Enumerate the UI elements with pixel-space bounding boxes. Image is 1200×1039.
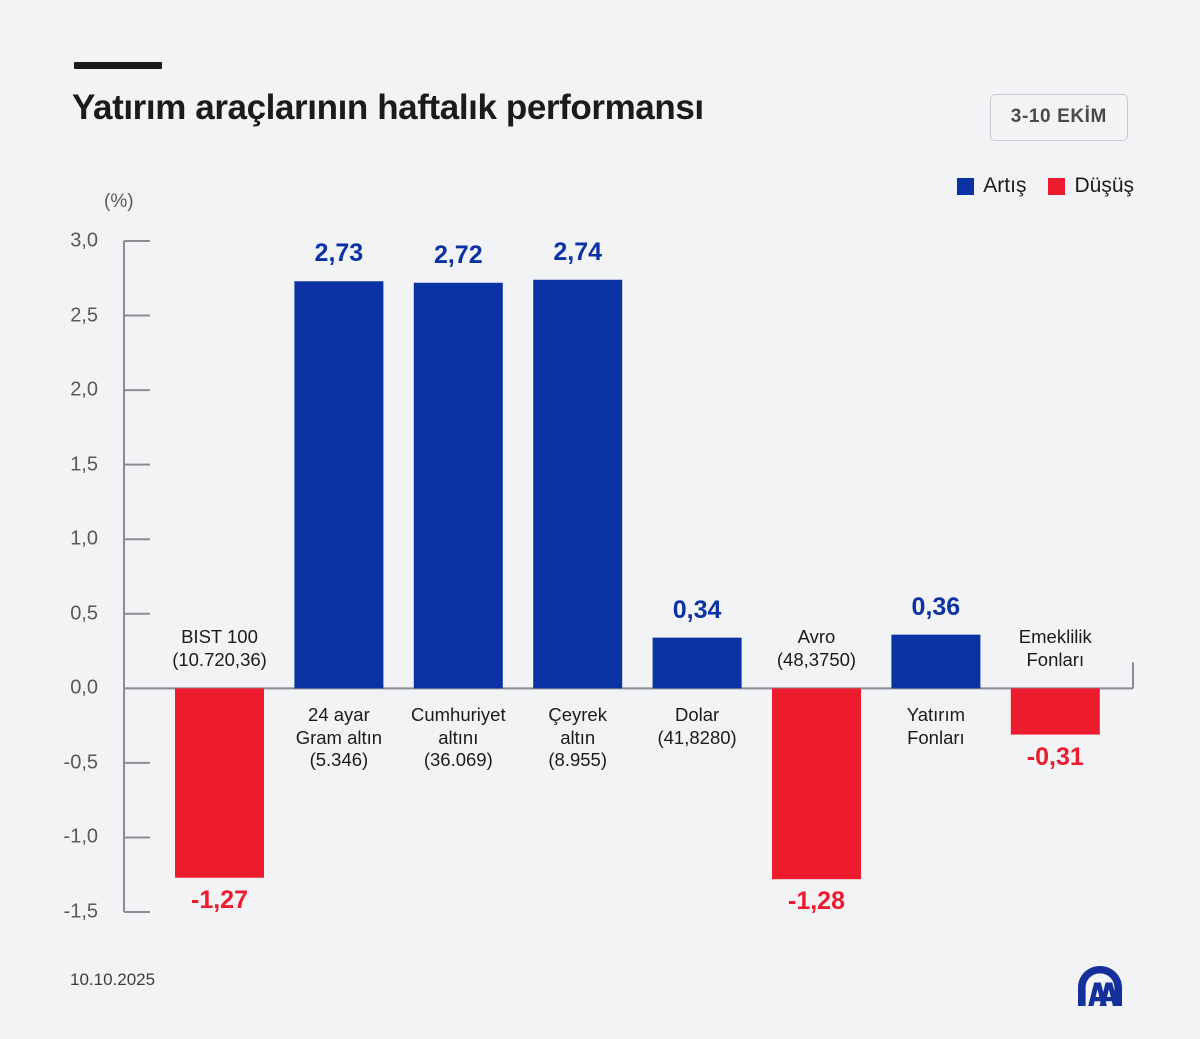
chart-svg [0,0,1200,1039]
bar-value-label: 2,74 [503,238,652,267]
y-axis-tick-label: 1,0 [28,528,98,551]
bar-value-label: -1,27 [145,886,294,915]
publication-date: 10.10.2025 [70,970,155,990]
bar-7 [891,635,980,689]
y-axis-tick-label: 3,0 [28,230,98,253]
bar-category-label: Avro (48,3750) [740,626,893,671]
y-axis-tick-label: 0,5 [28,602,98,625]
y-axis-tick-label: 2,0 [28,379,98,402]
y-axis-tick-label: 2,5 [28,304,98,327]
bar-value-label: -1,28 [742,887,891,916]
bar-6 [772,688,861,879]
aa-logo-icon [1072,962,1128,1010]
bar-8 [1011,688,1100,734]
bar-value-label: 0,34 [623,596,772,625]
y-axis-tick-label: 0,0 [28,677,98,700]
y-axis-tick-label: 1,5 [28,453,98,476]
bar-4 [533,280,622,689]
bar-value-label: -0,31 [981,743,1130,772]
y-axis-tick-label: -1,5 [28,901,98,924]
bar-3 [414,283,503,689]
bar-1 [175,688,264,877]
y-axis-tick-label: -0,5 [28,751,98,774]
bar-2 [294,281,383,688]
bar-category-label: BIST 100 (10.720,36) [143,626,296,671]
bar-value-label: 0,36 [861,593,1010,622]
bar-chart-plot: 3,02,52,01,51,00,50,0-0,5-1,0-1,5-1,27BI… [0,0,1200,1039]
y-axis-tick-label: -1,0 [28,826,98,849]
bar-category-label: Emeklilik Fonları [979,626,1132,671]
bar-category-label: Dolar (41,8280) [621,704,774,749]
bar-5 [653,638,742,689]
